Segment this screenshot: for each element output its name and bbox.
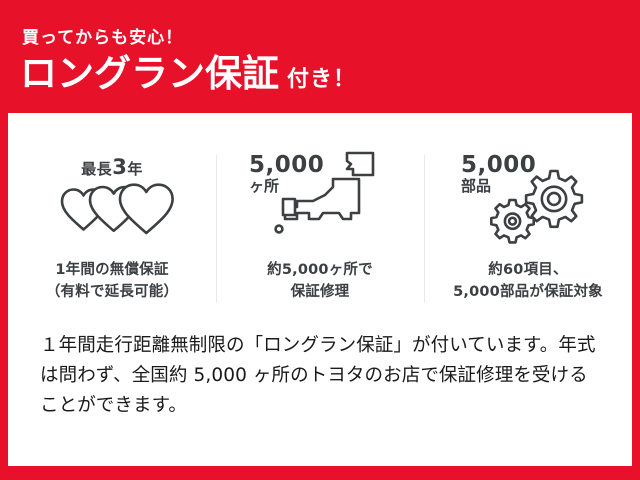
feature-caption: 約5,000ヶ所で 保証修理 [267,259,373,304]
header-kicker: 買ってからも安心！ [22,23,183,48]
badge-suffix: 年 [127,160,143,178]
warranty-term-badge: 最長3年 [17,155,207,179]
feature-service-locations: 5,000 ヶ所 [216,147,424,347]
badge-prefix: 最長 [81,160,112,178]
feature-warranty-term: 最長3年 1年間の無償保証 （有料で延長可能） [8,147,216,347]
body-paragraph: １年間走行距離無制限の「ロングラン保証」が付いています。年式は問わず、全国約 5… [40,331,606,421]
badge-number: 3 [112,155,127,179]
advertisement-banner: 買ってからも安心！ ロングラン保証 付き！ 最長3年 [0,0,640,480]
feature-figure: 最長3年 [17,147,207,259]
feature-columns: 最長3年 1年間の無償保証 （有料で延長可能） [8,147,632,347]
feature-figure: 5,000 ヶ所 [225,147,415,259]
header-headline: ロングラン保証 付き！ [20,55,356,92]
feature-caption: 約60項目、 5,000部品が保証対象 [453,259,603,304]
feature-caption: 1年間の無償保証 （有料で延長可能） [46,259,178,304]
content-panel: 最長3年 1年間の無償保証 （有料で延長可能） [8,113,632,466]
headline-main-text: ロングラン保証 [20,55,279,92]
japan-map-icon [273,149,377,249]
feature-covered-parts: 5,000 部品 [424,147,632,347]
header-band: 買ってからも安心！ ロングラン保証 付き！ [0,0,640,113]
gears-icon [485,167,593,253]
three-hearts-icon [50,183,174,245]
feature-figure: 5,000 部品 [433,147,623,259]
headline-suffix-text: 付き！ [287,69,356,91]
